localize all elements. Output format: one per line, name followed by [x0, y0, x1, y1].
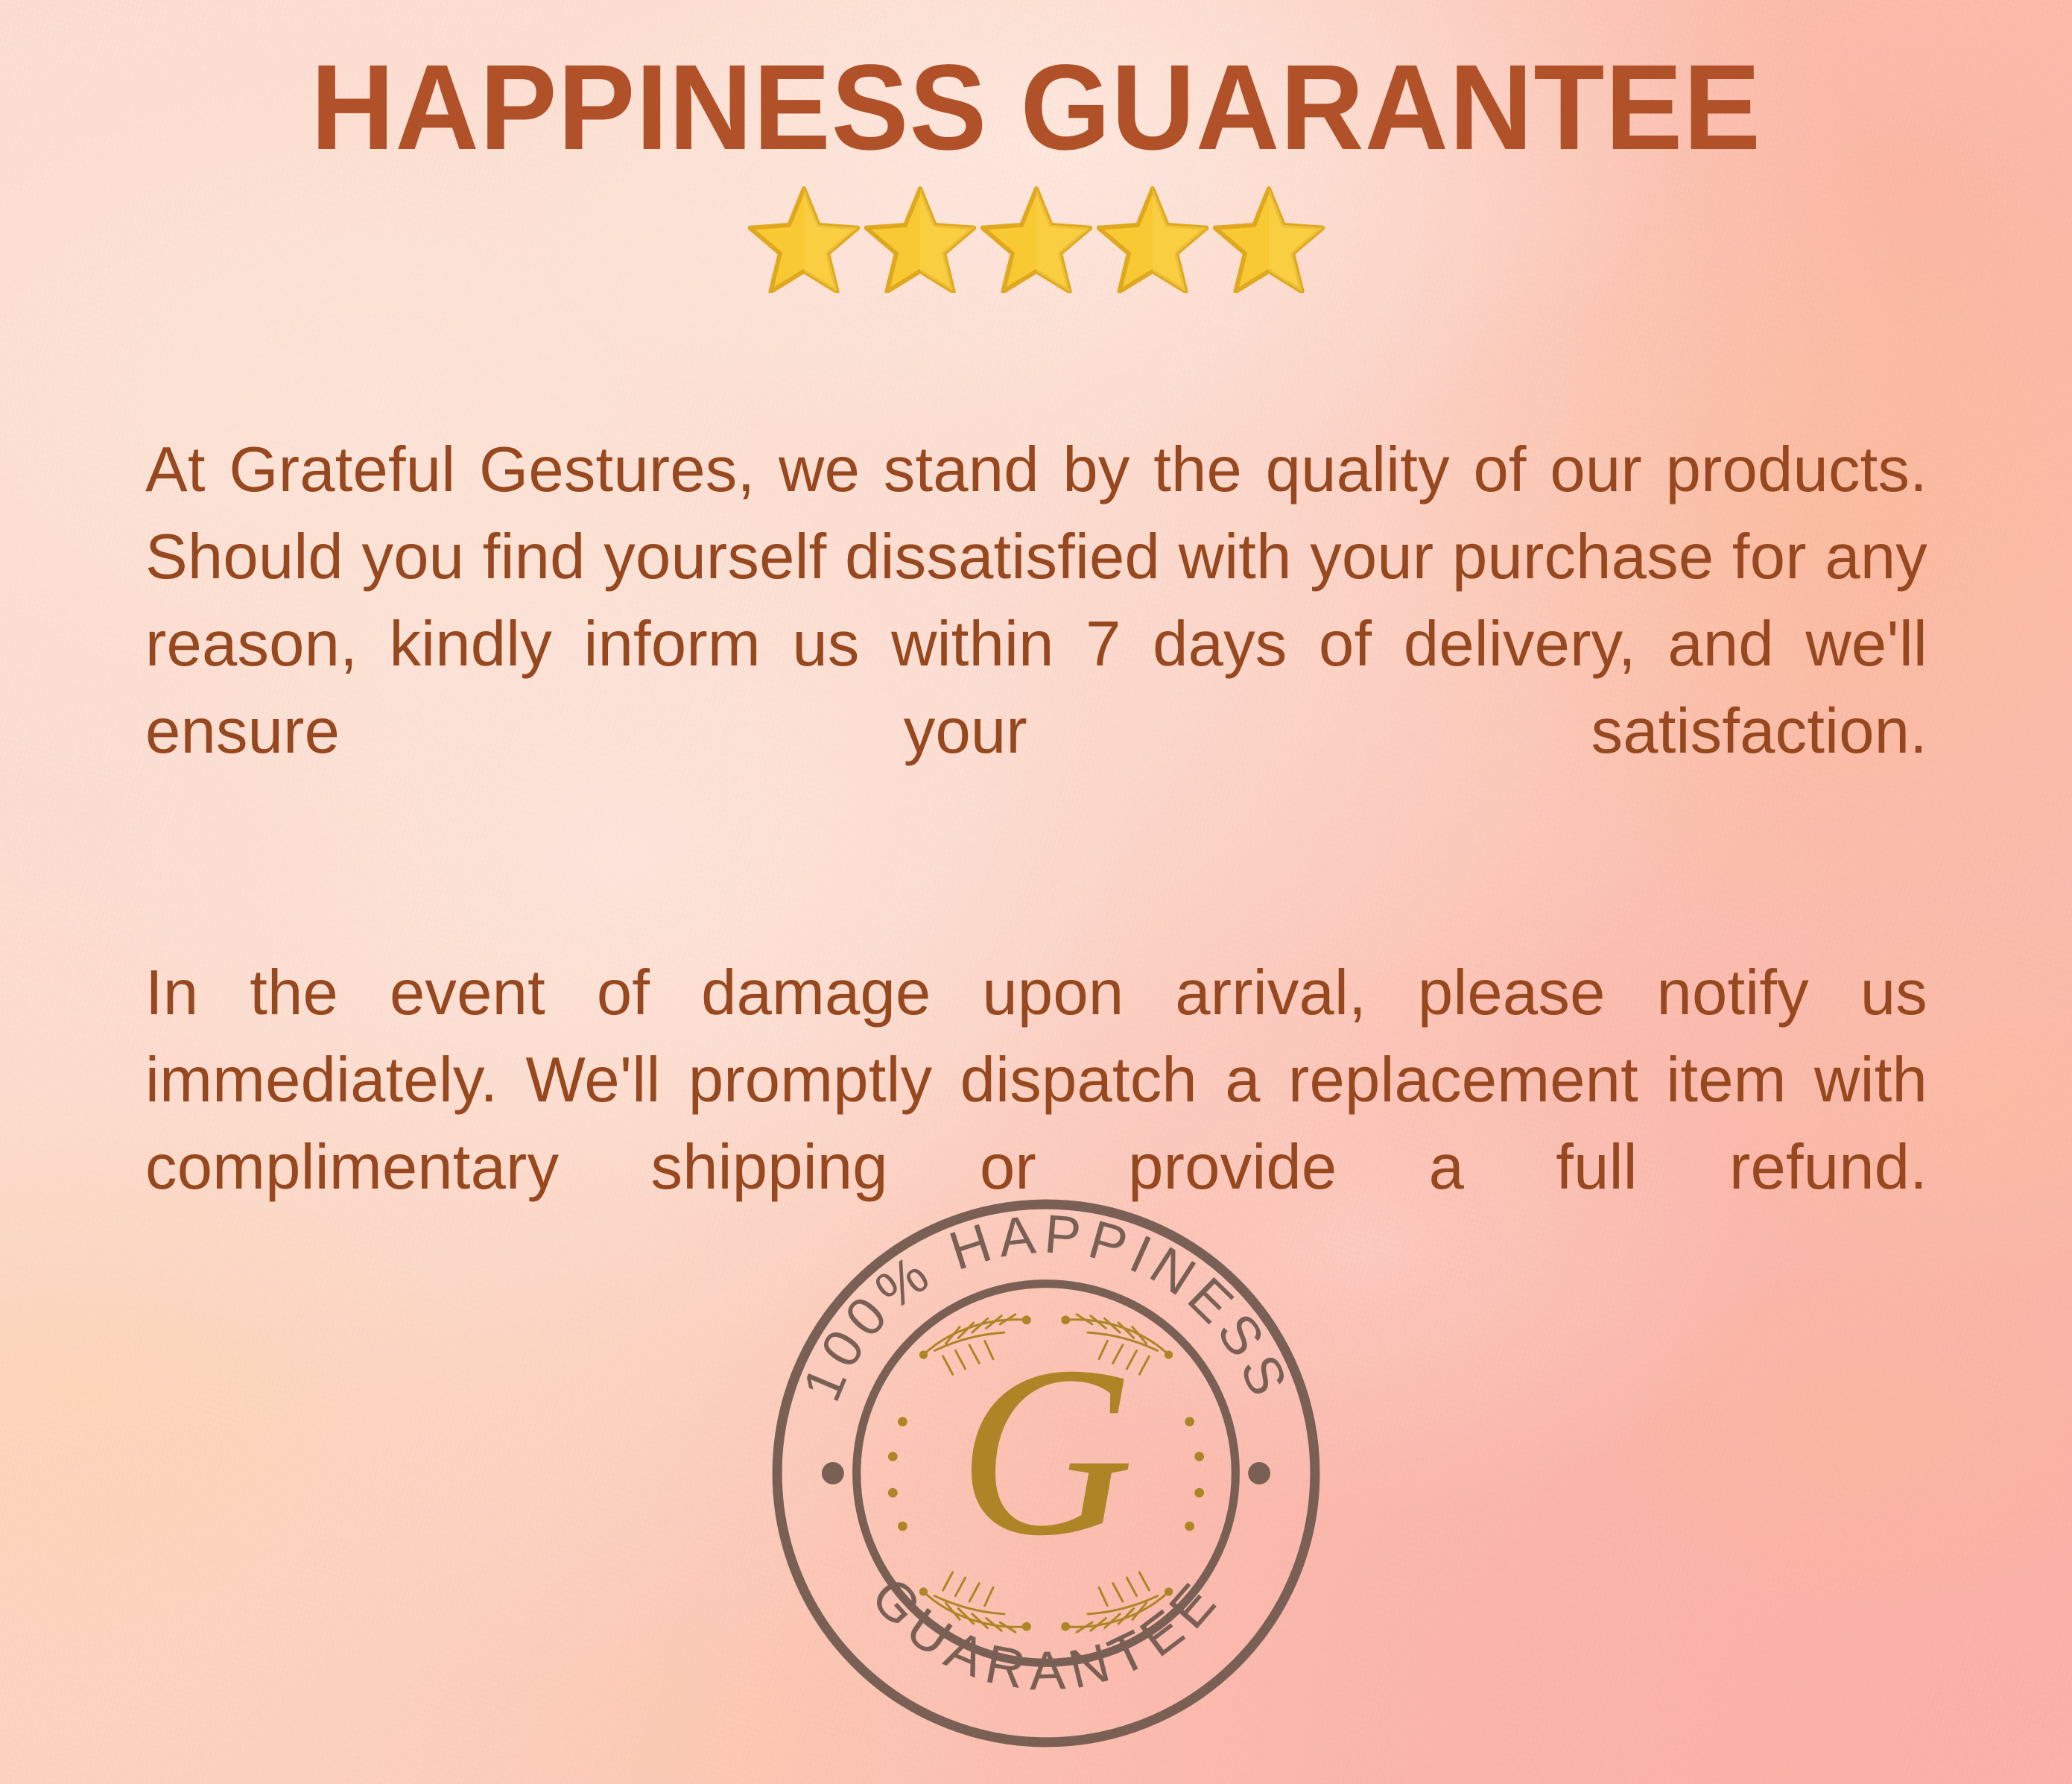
happiness-guarantee-card: HAPPINESS GUARANTEE At Grateful Gestures… [0, 0, 2072, 1784]
star-icon [1097, 185, 1208, 293]
seal-monogram-letter: G [958, 1315, 1134, 1586]
page-title: HAPPINESS GUARANTEE [47, 46, 2026, 168]
star-icon [864, 185, 976, 293]
happiness-guarantee-seal: 100% HAPPINESS GUARANTEE [767, 1195, 1325, 1752]
star-icon [748, 185, 860, 293]
star-icon [980, 185, 1092, 293]
seal-dot-right [1248, 1462, 1270, 1484]
star-icon [1213, 185, 1325, 293]
seal-bottom-text: GUARANTEE [860, 1566, 1233, 1702]
policy-text: At Grateful Gestures, we stand by the qu… [145, 426, 1927, 1298]
star-rating [0, 185, 2072, 293]
paragraph-return-policy: At Grateful Gestures, we stand by the qu… [145, 426, 1927, 862]
seal-dot-left [822, 1462, 844, 1484]
